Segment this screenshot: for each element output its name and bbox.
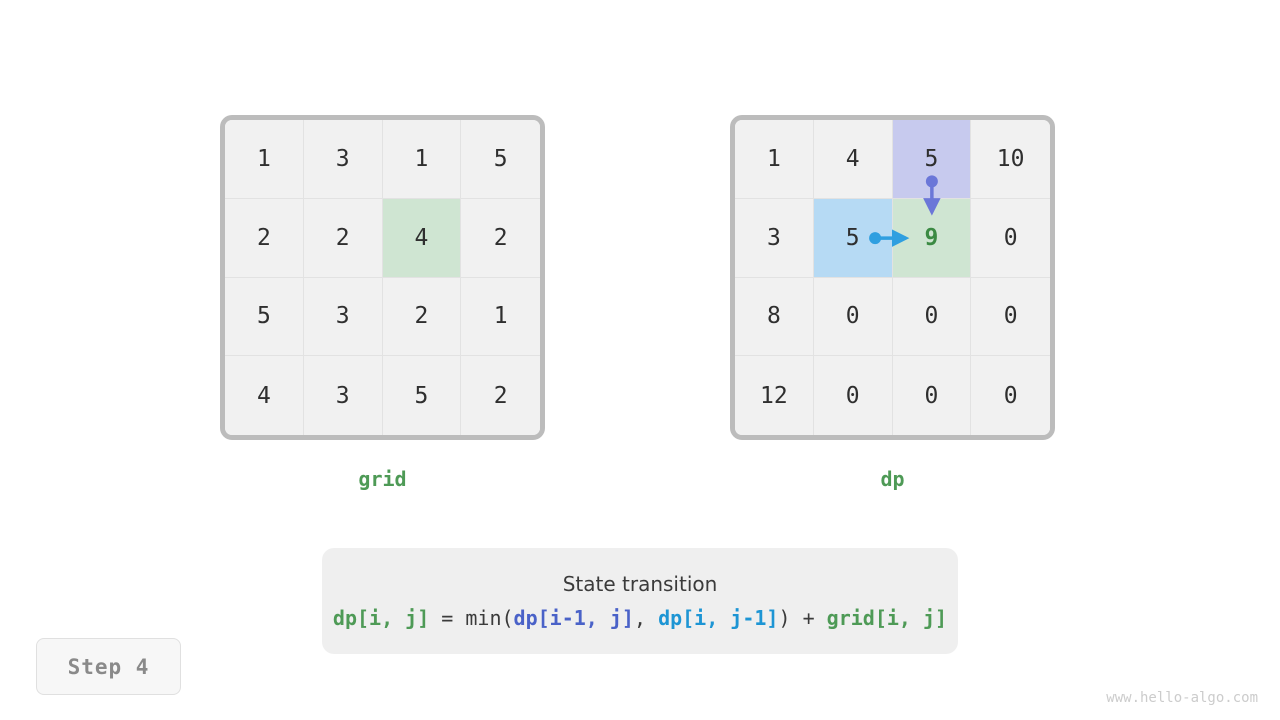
formula-token-2: dp[i-1, j] [514, 606, 634, 630]
dp-cell-r0-c0: 1 [735, 120, 814, 199]
dp-cell-r2-c1: 0 [814, 278, 893, 357]
grid-cell-r2-c0: 5 [225, 278, 304, 357]
grid-cell-r2-c3: 1 [461, 278, 540, 357]
grid-cell-r0-c0: 1 [225, 120, 304, 199]
grid-cell-r2-c1: 3 [304, 278, 383, 357]
grid-matrix-container: 1315224253214352 grid [220, 115, 545, 440]
dp-cell-r3-c0: 12 [735, 356, 814, 435]
step-badge: Step 4 [36, 638, 181, 695]
state-transition-title: State transition [563, 572, 718, 596]
grid-cell-r1-c2: 4 [383, 199, 462, 278]
formula-token-6: grid[i, j] [827, 606, 947, 630]
grid-cell-r0-c3: 5 [461, 120, 540, 199]
dp-cell-r0-c2: 5 [893, 120, 972, 199]
formula-token-4: dp[i, j-1] [658, 606, 778, 630]
dp-matrix-label: dp [730, 467, 1055, 491]
grid-matrix-label: grid [220, 467, 545, 491]
dp-cell-r0-c1: 4 [814, 120, 893, 199]
grid-cell-r0-c2: 1 [383, 120, 462, 199]
dp-cell-r1-c2: 9 [893, 199, 972, 278]
state-transition-formula: dp[i, j] = min(dp[i-1, j], dp[i, j-1]) +… [333, 606, 947, 630]
dp-cell-r2-c3: 0 [971, 278, 1050, 357]
grid-cell-r0-c1: 3 [304, 120, 383, 199]
dp-cell-r2-c2: 0 [893, 278, 972, 357]
formula-token-1: = min( [429, 606, 513, 630]
dp-cell-r1-c3: 0 [971, 199, 1050, 278]
formula-token-5: ) + [778, 606, 826, 630]
dp-cell-r3-c2: 0 [893, 356, 972, 435]
dp-matrix: 145103590800012000 [730, 115, 1055, 440]
formula-token-3: , [634, 606, 658, 630]
grid-matrix: 1315224253214352 [220, 115, 545, 440]
dp-cell-r1-c0: 3 [735, 199, 814, 278]
grid-cell-r3-c2: 5 [383, 356, 462, 435]
dp-matrix-container: 145103590800012000 dp [730, 115, 1055, 440]
formula-token-0: dp[i, j] [333, 606, 429, 630]
grid-cell-r1-c1: 2 [304, 199, 383, 278]
watermark: www.hello-algo.com [1106, 690, 1258, 706]
grid-cell-r3-c1: 3 [304, 356, 383, 435]
dp-cell-r3-c1: 0 [814, 356, 893, 435]
grid-cell-r3-c0: 4 [225, 356, 304, 435]
dp-cell-r3-c3: 0 [971, 356, 1050, 435]
dp-cell-r0-c3: 10 [971, 120, 1050, 199]
grid-cell-r3-c3: 2 [461, 356, 540, 435]
grid-cell-r1-c0: 2 [225, 199, 304, 278]
grid-cell-r2-c2: 2 [383, 278, 462, 357]
grid-cell-r1-c3: 2 [461, 199, 540, 278]
state-transition-panel: State transition dp[i, j] = min(dp[i-1, … [322, 548, 958, 654]
dp-cell-r2-c0: 8 [735, 278, 814, 357]
dp-cell-r1-c1: 5 [814, 199, 893, 278]
